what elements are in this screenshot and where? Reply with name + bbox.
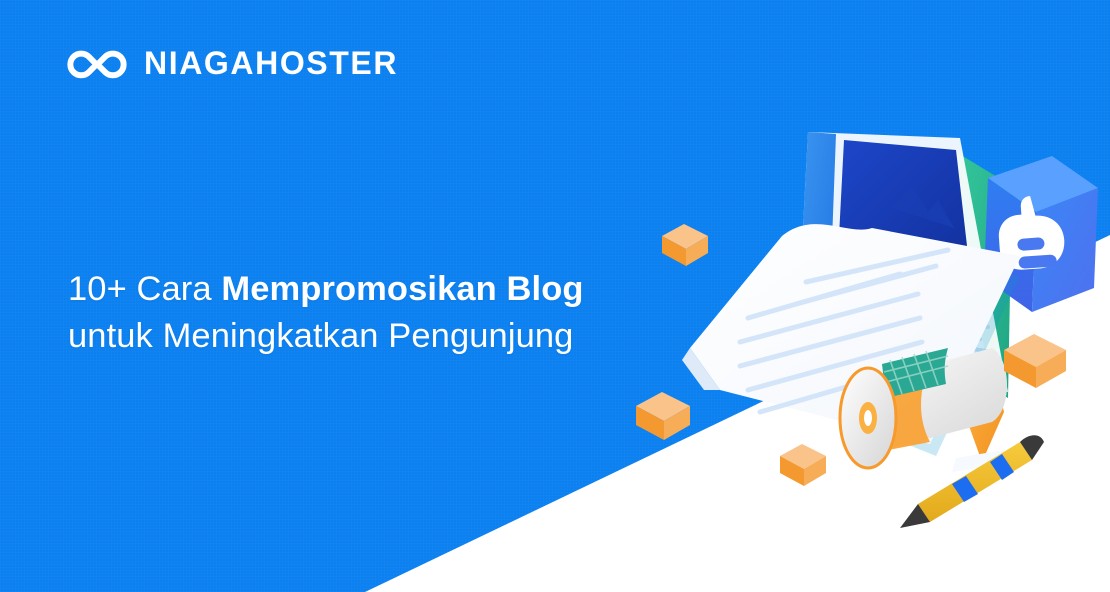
headline-bold-part: Mempromosikan Blog [221, 270, 583, 308]
headline-regular-part: 10+ Cara [68, 270, 221, 308]
cube-bottom-left [636, 392, 690, 440]
brand-logo: NIAGAHOSTER [66, 40, 398, 86]
headline-line-1: 10+ Cara Mempromosikan Blog [68, 266, 584, 313]
headline-line-2: untuk Meningkatkan Pengunjung [68, 313, 584, 360]
niagahoster-infinity-mark-icon [66, 40, 128, 86]
cube-bottom-center [780, 444, 826, 486]
banner-canvas: NIAGAHOSTER 10+ Cara Mempromosikan Blog … [0, 0, 1110, 592]
brand-name: NIAGAHOSTER [144, 47, 398, 79]
page-title: 10+ Cara Mempromosikan Blog untuk Mening… [68, 266, 584, 360]
cube-right [1004, 334, 1066, 388]
illustration-blog-promotion [600, 60, 1110, 530]
cube-top-left [662, 224, 708, 266]
